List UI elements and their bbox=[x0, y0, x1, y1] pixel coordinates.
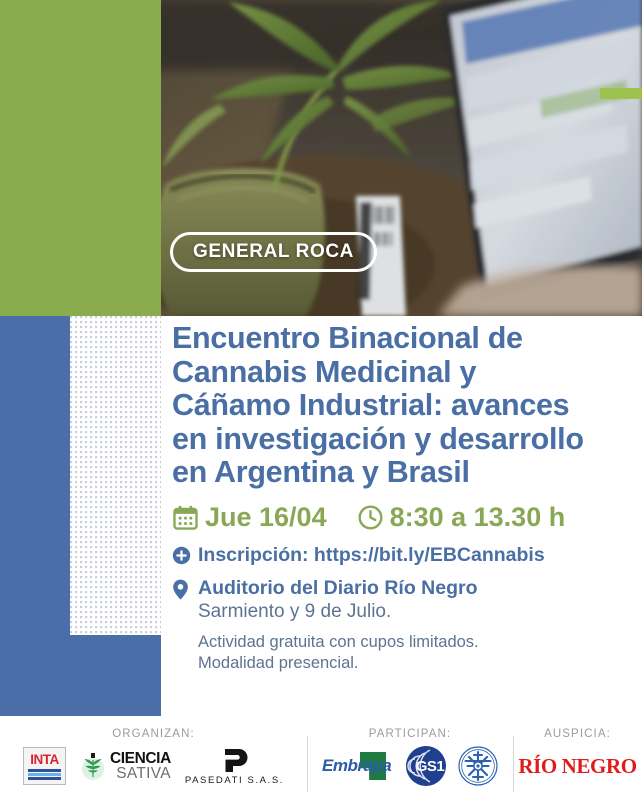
title-line: Encuentro Binacional de bbox=[172, 322, 642, 356]
ciencia-sativa-text: CIENCIA SATIVA bbox=[110, 751, 171, 781]
clock-icon bbox=[357, 504, 384, 531]
dotted-pattern-column bbox=[70, 316, 161, 636]
title-line: Cáñamo Industrial: avances bbox=[172, 389, 642, 423]
footer-group-participan: PARTICIPAN: Embrapa GS1 bbox=[307, 724, 513, 803]
pasedati-mark-icon bbox=[217, 747, 251, 774]
registration-row[interactable]: Inscripción: https://bit.ly/EBCannabis bbox=[172, 544, 642, 566]
inta-logo: INTA bbox=[23, 747, 66, 785]
page-title: Encuentro Binacional de Cannabis Medicin… bbox=[172, 322, 642, 490]
footer-logos: ORGANIZAN: INTA bbox=[0, 724, 642, 803]
inta-logo-stripes bbox=[28, 768, 61, 780]
map-pin-icon bbox=[172, 577, 198, 600]
pasedati-logo: PASEDATI S.A.S. bbox=[185, 747, 284, 786]
participan-heading: PARTICIPAN: bbox=[307, 724, 513, 740]
attendance-note-line2: Modalidad presencial. bbox=[198, 654, 359, 672]
calendar-icon bbox=[172, 504, 199, 531]
event-time-label: 8:30 a 13.30 h bbox=[390, 502, 566, 533]
venue-name: Auditorio del Diario Río Negro bbox=[198, 577, 478, 599]
auspicia-heading: AUSPICIA: bbox=[513, 724, 642, 740]
registration-link[interactable]: Inscripción: https://bit.ly/EBCannabis bbox=[198, 544, 545, 566]
green-accent-strip bbox=[600, 88, 642, 99]
location-badge-label: GENERAL ROCA bbox=[193, 241, 354, 263]
blue-foot-block bbox=[0, 635, 161, 716]
rio-negro-logo: RÍO NEGRO bbox=[518, 754, 636, 779]
event-poster: GENERAL ROCA Encuentro Binacional de Can… bbox=[0, 0, 642, 803]
poster-content: Encuentro Binacional de Cannabis Medicin… bbox=[172, 322, 642, 674]
footer-group-organizan: ORGANIZAN: INTA bbox=[0, 724, 307, 803]
ciencia-sativa-logo: CIENCIA SATIVA bbox=[80, 751, 171, 781]
title-line: en Argentina y Brasil bbox=[172, 456, 642, 490]
venue-address: Sarmiento y 9 de Julio. bbox=[198, 601, 391, 622]
uncoma-logo bbox=[458, 746, 498, 786]
footer-group-auspicia: AUSPICIA: RÍO NEGRO bbox=[513, 724, 642, 803]
attendance-note: Actividad gratuita con cupos limitados. … bbox=[198, 632, 479, 674]
event-date-label: Jue 16/04 bbox=[205, 502, 327, 533]
location-text-block: Auditorio del Diario Río Negro Sarmiento… bbox=[198, 577, 479, 674]
ciencia-sativa-line2: SATIVA bbox=[110, 766, 171, 781]
event-date: Jue 16/04 bbox=[172, 502, 327, 533]
location-badge: GENERAL ROCA bbox=[170, 232, 377, 272]
event-meta-row: Jue 16/04 8:30 a 13.30 h bbox=[172, 502, 642, 533]
title-line: en investigación y desarrollo bbox=[172, 423, 642, 457]
attendance-note-line1: Actividad gratuita con cupos limitados. bbox=[198, 633, 479, 651]
gs1-logo: GS1 bbox=[406, 746, 446, 786]
inta-logo-text: INTA bbox=[30, 753, 59, 766]
event-time: 8:30 a 13.30 h bbox=[357, 502, 566, 533]
pasedati-text: PASEDATI S.A.S. bbox=[185, 775, 284, 786]
embrapa-text: Embrapa bbox=[322, 756, 391, 776]
leaf-flask-icon bbox=[80, 751, 106, 781]
location-row: Auditorio del Diario Río Negro Sarmiento… bbox=[172, 577, 642, 674]
title-line: Cannabis Medicinal y bbox=[172, 356, 642, 390]
organizan-heading: ORGANIZAN: bbox=[0, 724, 307, 740]
plus-circle-icon bbox=[172, 544, 198, 565]
gs1-text: GS1 bbox=[416, 758, 445, 775]
embrapa-logo: Embrapa bbox=[322, 750, 394, 782]
green-top-block bbox=[0, 0, 161, 70]
